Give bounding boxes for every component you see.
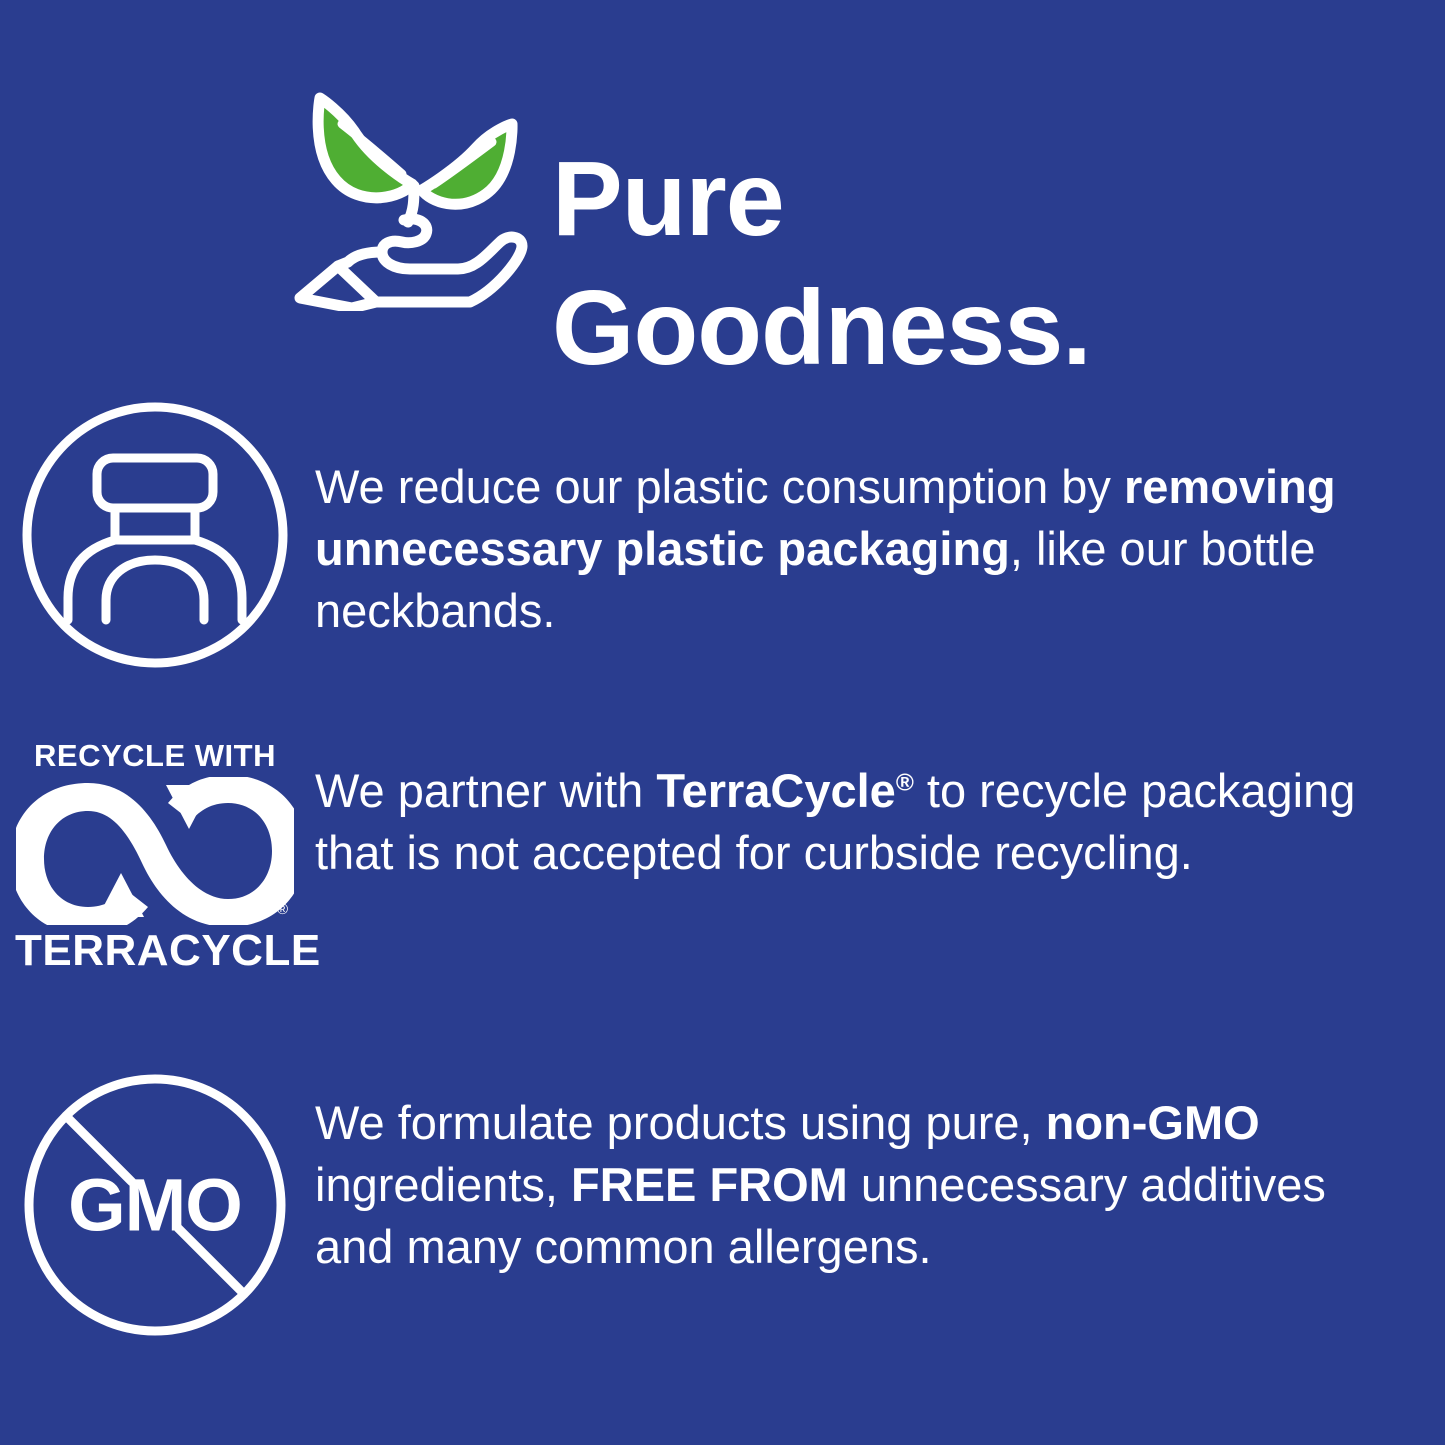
text-segment: We formulate products using pure, xyxy=(315,1096,1046,1149)
text-segment-bold: non-GMO xyxy=(1046,1096,1260,1149)
no-gmo-icon: GMO xyxy=(20,1070,290,1340)
feature-row-plastic: We reduce our plastic consumption by rem… xyxy=(0,400,1445,730)
registered-mark: ® xyxy=(896,769,914,796)
pure-goodness-infographic: Pure Goodness. xyxy=(0,0,1445,1445)
feature-list: We reduce our plastic consumption by rem… xyxy=(0,400,1445,1400)
feature-row-gmo: GMO We formulate products using pure, no… xyxy=(0,1070,1445,1400)
hand-holding-plant-icon xyxy=(290,76,530,311)
feature-row-terracycle: RECYCLE WITH xyxy=(0,730,1445,1070)
feature-text-terracycle: We partner with TerraCycle® to recycle p… xyxy=(315,730,1445,884)
terracycle-bottom-label: TERRACYCLE xyxy=(15,929,295,973)
feature-text-plastic: We reduce our plastic consumption by rem… xyxy=(315,400,1445,642)
terracycle-registered-mark: ® xyxy=(277,902,288,917)
page-title: Pure Goodness. xyxy=(552,133,1091,394)
text-segment: ingredients, xyxy=(315,1158,571,1211)
feature-icon-wrapper: RECYCLE WITH xyxy=(0,730,300,973)
terracycle-logo-icon: RECYCLE WITH xyxy=(15,730,295,973)
text-segment-bold: TerraCycle xyxy=(656,764,896,817)
terracycle-infinity-icon: ® xyxy=(16,777,294,925)
feature-text-gmo: We formulate products using pure, non-GM… xyxy=(315,1070,1445,1278)
text-segment: We partner with xyxy=(315,764,656,817)
bottle-in-circle-icon xyxy=(20,400,290,675)
feature-icon-wrapper xyxy=(0,400,300,675)
text-segment-bold: FREE FROM xyxy=(571,1158,848,1211)
feature-icon-wrapper: GMO xyxy=(0,1070,300,1340)
text-segment: We reduce our plastic consumption by xyxy=(315,460,1124,513)
terracycle-top-label: RECYCLE WITH xyxy=(15,740,295,771)
gmo-label: GMO xyxy=(68,1164,242,1247)
